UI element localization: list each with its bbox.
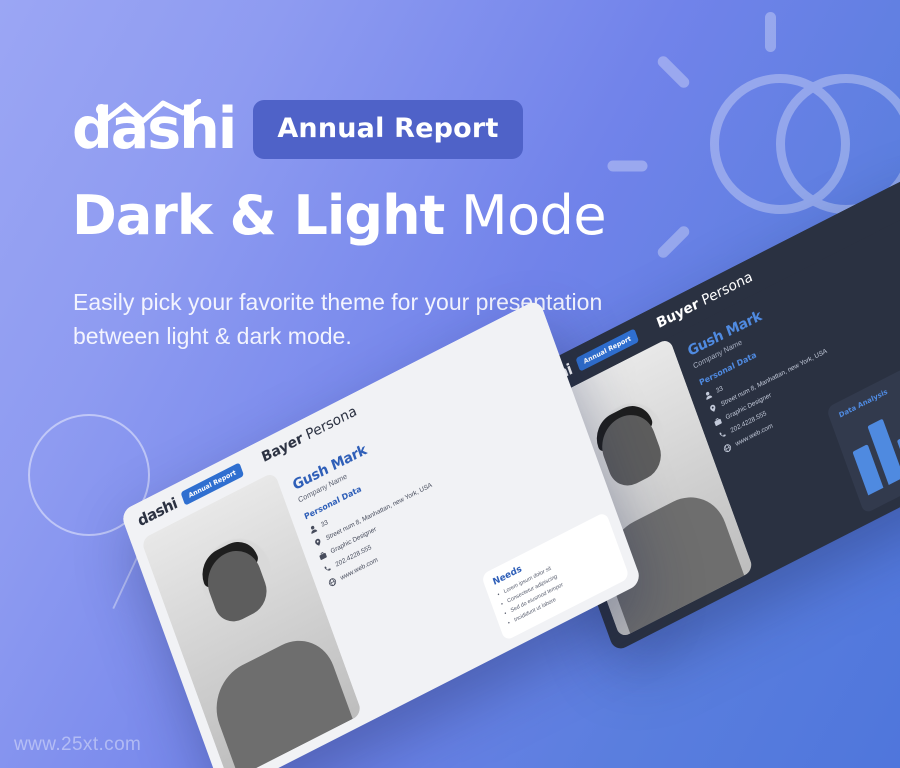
pin-icon <box>313 537 323 548</box>
page-title-bold: Dark & Light <box>72 184 444 247</box>
detail-value: 33 <box>715 384 724 394</box>
logo-zigzag-icon <box>105 99 201 125</box>
briefcase-icon <box>318 550 328 561</box>
poster-canvas: dashi Annual Report Dark & Light Mode Ea… <box>0 0 900 768</box>
person-icon <box>308 524 318 535</box>
pin-icon <box>708 403 718 414</box>
sun-ray <box>765 12 776 52</box>
sun-ray <box>655 54 691 90</box>
phone-icon <box>323 563 333 574</box>
brand-header: dashi Annual Report <box>72 100 523 159</box>
sun-ring-left <box>710 74 850 214</box>
page-title-light: Mode <box>444 184 606 247</box>
detail-value: 33 <box>320 518 329 528</box>
page-title: Dark & Light Mode <box>72 188 606 244</box>
portrait-torso <box>205 626 353 768</box>
dashi-logo: dashi <box>72 102 235 156</box>
sun-ray <box>655 224 691 260</box>
globe-icon <box>723 443 733 454</box>
globe-icon <box>328 577 338 588</box>
person-icon <box>703 390 713 401</box>
sun-ray <box>608 161 648 172</box>
phone-icon <box>718 429 728 440</box>
slide-preview-light[interactable]: dashi Annual Report Bayer Persona Gush M… <box>120 299 642 768</box>
briefcase-icon <box>713 416 723 427</box>
annual-report-badge[interactable]: Annual Report <box>253 100 522 159</box>
watermark: www.25xt.com <box>14 734 141 756</box>
